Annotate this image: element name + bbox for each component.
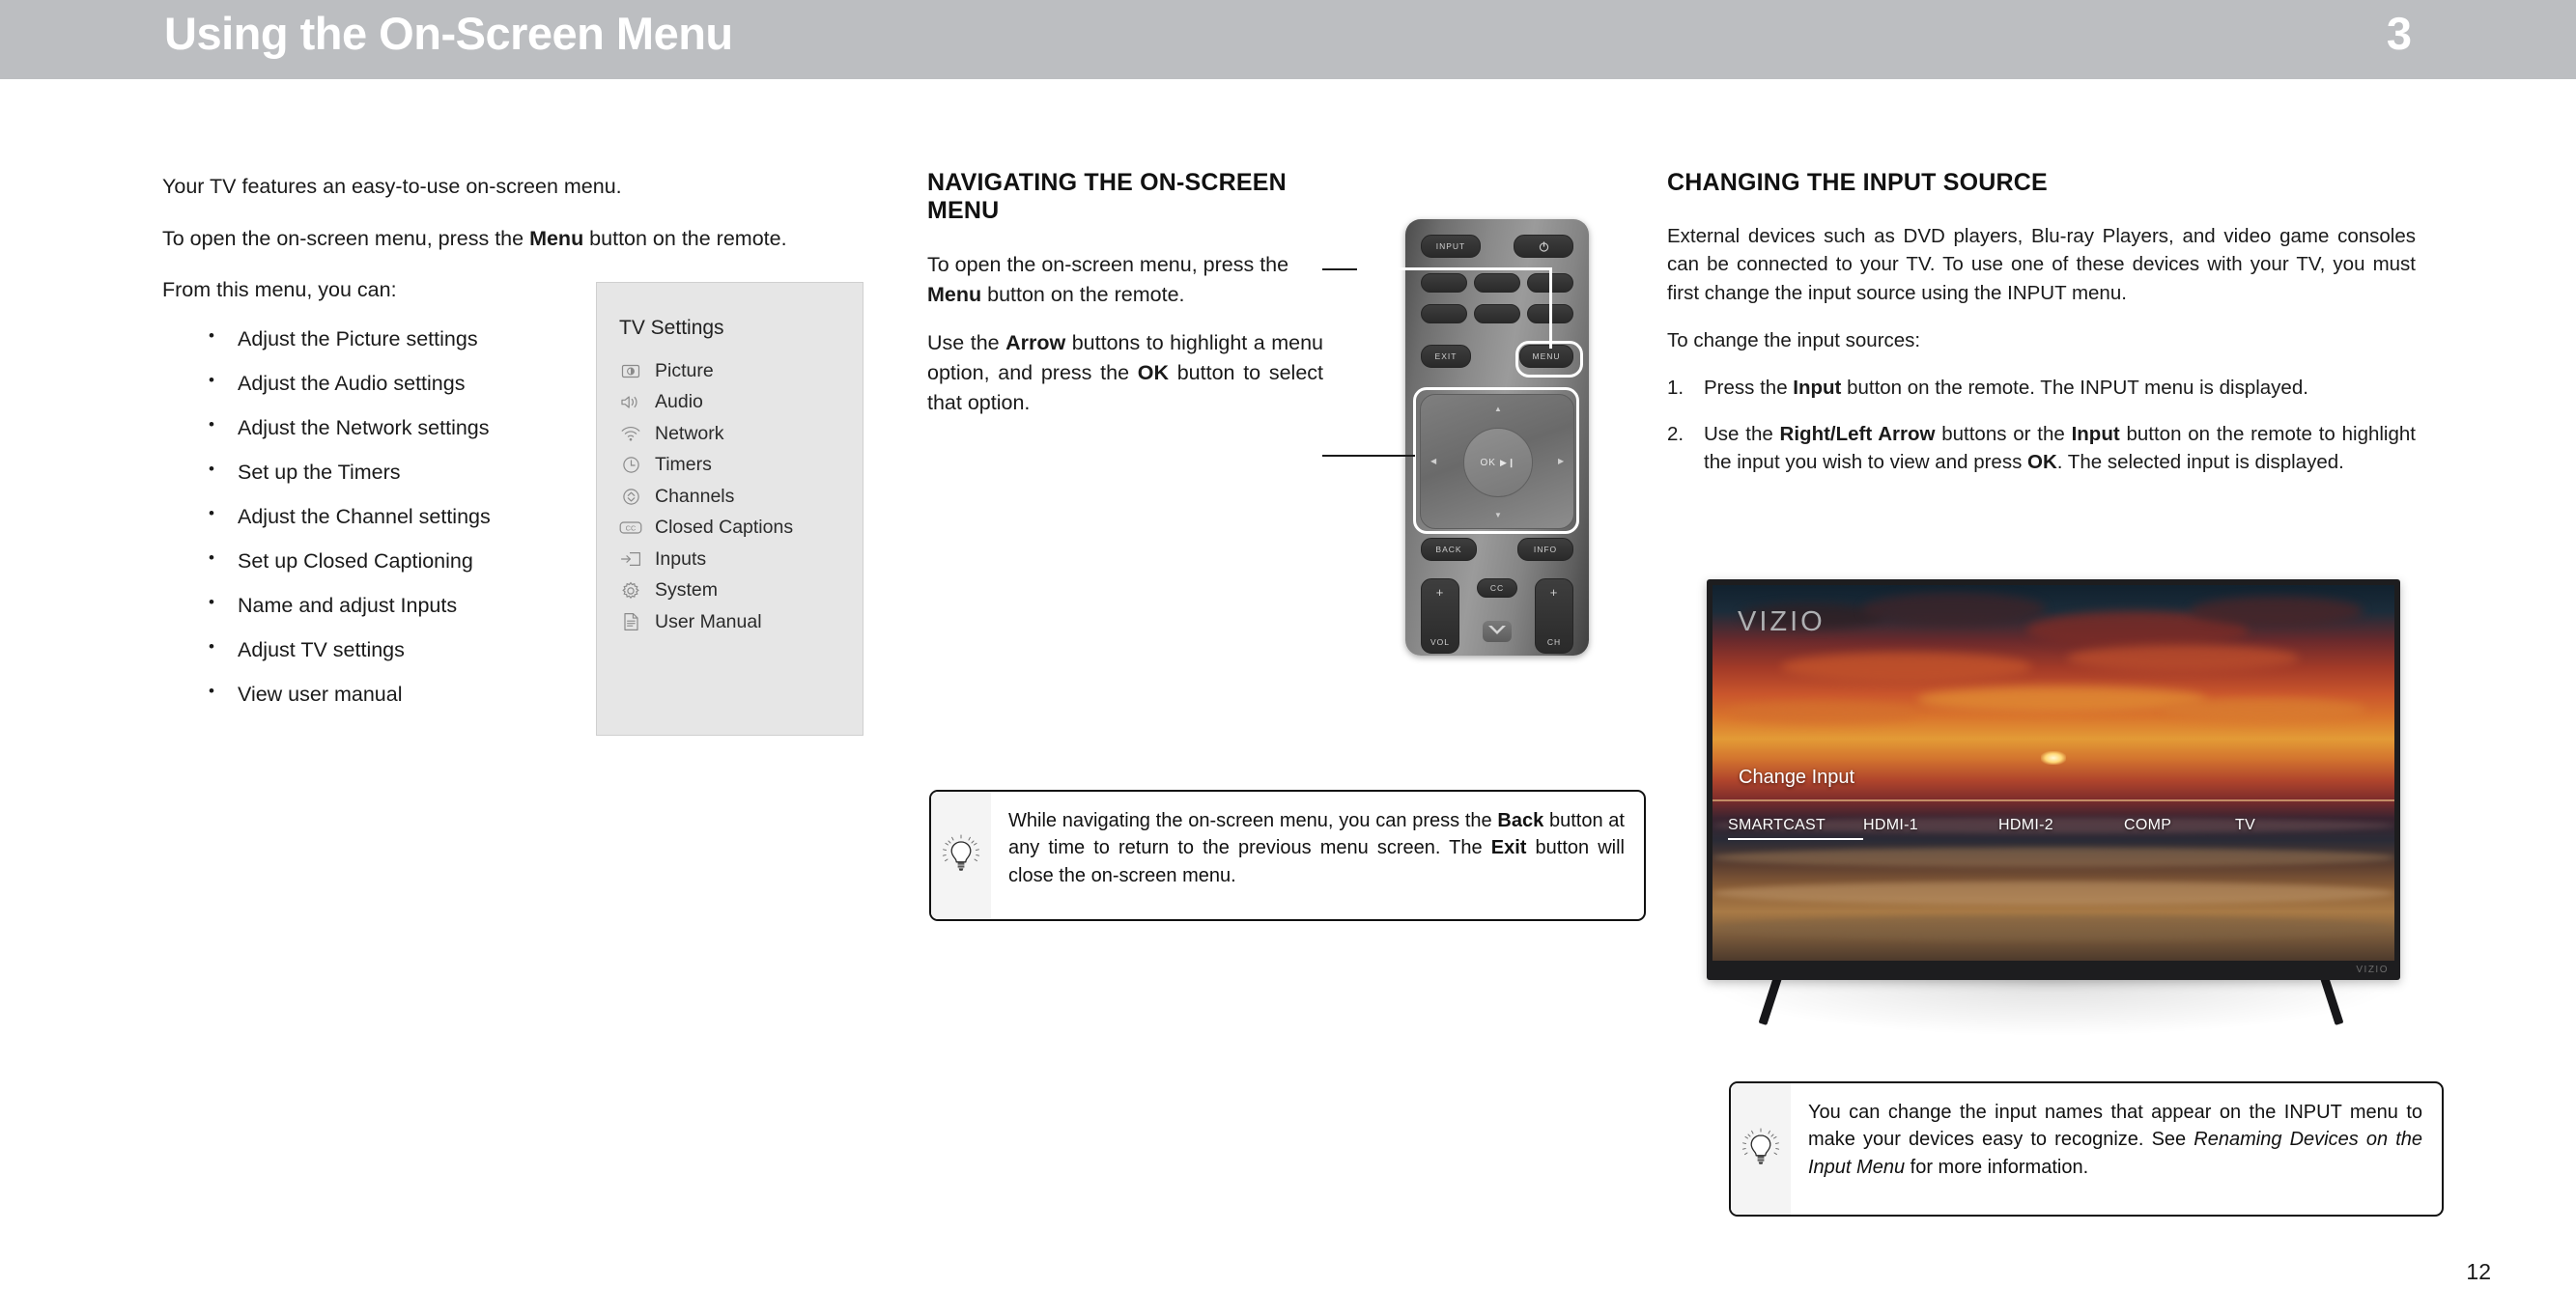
tv-input-option-hdmi1[interactable]: HDMI-1 xyxy=(1863,817,1998,834)
menu-item-user-manual[interactable]: User Manual xyxy=(616,606,858,638)
mid-p1-post: button on the remote. xyxy=(981,283,1184,306)
remote-channel-button[interactable]: + CH xyxy=(1535,578,1573,654)
tv-bezel-brand: VIZIO xyxy=(2356,965,2389,975)
mid-p1-bold: Menu xyxy=(927,283,981,306)
page-header-bar: Using the On-Screen Menu 3 xyxy=(0,0,2576,79)
left-paragraph-1: Your TV features an easy-to-use on-scree… xyxy=(162,172,896,202)
picture-contrast-icon xyxy=(616,360,645,381)
tv-settings-title: TV Settings xyxy=(619,317,724,340)
step2-bold3: OK xyxy=(2027,451,2057,473)
mid-p2-bold2: OK xyxy=(1138,361,1169,384)
ch-plus-label: + xyxy=(1550,585,1559,600)
chapter-number: 3 xyxy=(2387,7,2412,60)
remote-volume-button[interactable]: + VOL xyxy=(1421,578,1459,654)
mid-p1-pre: To open the on-screen menu, press the xyxy=(927,253,1288,276)
tip-text-navigation: While navigating the on-screen menu, you… xyxy=(991,792,1644,919)
remote-exit-button[interactable]: EXIT xyxy=(1421,345,1471,368)
step-number: 1. xyxy=(1667,374,1684,402)
vol-label: VOL xyxy=(1430,637,1450,647)
tv-input-options-bar: SMARTCAST HDMI-1 HDMI-2 COMP TV xyxy=(1728,817,2383,840)
arrow-callout-leader-line xyxy=(1322,455,1415,457)
ch-label: CH xyxy=(1547,637,1561,647)
tv-input-option-smartcast[interactable]: SMARTCAST xyxy=(1728,817,1863,840)
menu-item-timers[interactable]: Timers xyxy=(616,450,858,482)
remote-back-button[interactable]: BACK xyxy=(1421,538,1477,561)
wifi-icon xyxy=(616,423,645,444)
vol-plus-label: + xyxy=(1436,585,1445,600)
menu-item-label: Timers xyxy=(655,454,712,476)
tv-input-option-hdmi2[interactable]: HDMI-2 xyxy=(1998,817,2124,834)
menu-item-label: Audio xyxy=(655,391,703,413)
mid-p2-pre: Use the xyxy=(927,331,1005,354)
menu-item-label: Network xyxy=(655,423,724,445)
tip-box-navigation: While navigating the on-screen menu, you… xyxy=(929,790,1646,921)
lightbulb-icon xyxy=(942,834,980,877)
menu-item-label: System xyxy=(655,579,718,602)
menu-item-channels[interactable]: Channels xyxy=(616,481,858,513)
tv-bezel: VIZIO Change Input SMARTCAST HDMI-1 HDMI… xyxy=(1707,579,2400,980)
input-arrow-icon xyxy=(616,548,645,570)
tv-vizio-logo: VIZIO xyxy=(1738,606,1826,638)
middle-column: NAVIGATING THE ON-SCREEN MENU To open th… xyxy=(927,169,1323,437)
sun-glow xyxy=(2041,751,2066,765)
middle-paragraph-1: To open the on-screen menu, press the Me… xyxy=(927,250,1323,309)
horizon-line xyxy=(1713,799,2394,801)
menu-item-audio[interactable]: Audio xyxy=(616,387,858,419)
gear-icon xyxy=(616,580,645,602)
tip-icon-pane xyxy=(1731,1083,1791,1215)
remote-app-button-2[interactable] xyxy=(1474,273,1520,293)
section-heading-changing-input: CHANGING THE INPUT SOURCE xyxy=(1667,169,2416,197)
menu-item-closed-captions[interactable]: CC Closed Captions xyxy=(616,513,858,545)
remote-control-illustration: INPUT EXIT MENU ▲ ◀ ▶ ▼ OK ▶❙ xyxy=(1398,208,1596,661)
right-column: CHANGING THE INPUT SOURCE External devic… xyxy=(1667,169,2416,493)
middle-paragraph-2: Use the Arrow buttons to highlight a men… xyxy=(927,328,1323,417)
menu-item-label: Inputs xyxy=(655,548,706,571)
tip-bot-line2: for more information. xyxy=(1905,1157,2088,1178)
menu-item-label: Channels xyxy=(655,486,734,508)
lightbulb-icon xyxy=(1741,1128,1780,1170)
menu-item-system[interactable]: System xyxy=(616,575,858,607)
menu-item-network[interactable]: Network xyxy=(616,418,858,450)
step1-post: button on the remote. The INPUT menu is … xyxy=(1841,377,2308,399)
input-change-steps: 1.Press the Input button on the remote. … xyxy=(1667,374,2416,476)
manual-page: Using the On-Screen Menu 3 Your TV featu… xyxy=(0,0,2576,1316)
channel-updown-icon xyxy=(616,486,645,507)
tip-text-renaming: You can change the input names that appe… xyxy=(1791,1083,2442,1215)
list-item: 1.Press the Input button on the remote. … xyxy=(1667,374,2416,402)
menu-item-inputs[interactable]: Inputs xyxy=(616,544,858,575)
tv-input-option-tv[interactable]: TV xyxy=(2235,817,2255,834)
page-number: 12 xyxy=(2466,1259,2491,1285)
left-p2-bold: Menu xyxy=(529,227,583,250)
step1-pre: Press the xyxy=(1704,377,1793,399)
dpad-highlight xyxy=(1413,387,1579,534)
tip-box-renaming: You can change the input names that appe… xyxy=(1729,1081,2444,1217)
vizio-v-logo xyxy=(1483,621,1512,642)
remote-app-button-5[interactable] xyxy=(1474,304,1520,323)
remote-input-button[interactable]: INPUT xyxy=(1421,235,1481,258)
menu-callout-connector-horizontal xyxy=(1351,267,1552,270)
remote-power-button[interactable] xyxy=(1514,235,1573,258)
menu-item-picture[interactable]: Picture xyxy=(616,355,858,387)
tv-settings-menu-list: Picture Audio Network Timers xyxy=(616,355,858,638)
menu-item-label: Picture xyxy=(655,360,714,382)
right-paragraph-1: External devices such as DVD players, Bl… xyxy=(1667,222,2416,307)
remote-app-button-1[interactable] xyxy=(1421,273,1467,293)
menu-callout-connector-vertical xyxy=(1549,267,1552,349)
list-item: 2.Use the Right/Left Arrow buttons or th… xyxy=(1667,420,2416,477)
tip-icon-pane xyxy=(931,792,991,919)
page-title: Using the On-Screen Menu xyxy=(164,7,733,60)
tv-shadow xyxy=(1714,977,2391,1035)
menu-item-label: Closed Captions xyxy=(655,517,793,539)
speaker-icon xyxy=(616,392,645,413)
tv-screen: VIZIO Change Input SMARTCAST HDMI-1 HDMI… xyxy=(1713,585,2394,961)
section-heading-navigating: NAVIGATING THE ON-SCREEN MENU xyxy=(927,169,1323,225)
step2-bold2: Input xyxy=(2072,423,2120,445)
tip-mid-bold1: Back xyxy=(1497,810,1543,831)
tip-mid-bold2: Exit xyxy=(1491,837,1527,858)
step2-mid1: buttons or the xyxy=(1935,423,2071,445)
power-icon xyxy=(1539,241,1549,252)
menu-callout-leader-line xyxy=(1322,268,1357,270)
tip-mid-line1: While navigating the on-screen menu, you… xyxy=(1008,810,1497,831)
cc-icon: CC xyxy=(616,518,645,539)
step2-pre: Use the xyxy=(1704,423,1780,445)
remote-cc-button[interactable]: CC xyxy=(1477,578,1517,598)
tv-settings-panel: TV Settings Picture Audio Network xyxy=(596,282,863,736)
remote-app-button-4[interactable] xyxy=(1421,304,1467,323)
clock-icon xyxy=(616,455,645,476)
step1-bold: Input xyxy=(1793,377,1841,399)
step-number: 2. xyxy=(1667,420,1684,448)
menu-item-label: User Manual xyxy=(655,611,762,633)
tv-change-input-title: Change Input xyxy=(1739,767,1854,789)
mid-p2-bold1: Arrow xyxy=(1005,331,1065,354)
left-paragraph-2: To open the on-screen menu, press the Me… xyxy=(162,224,896,254)
step2-bold1: Right/Left Arrow xyxy=(1780,423,1936,445)
right-paragraph-2: To change the input sources: xyxy=(1667,326,2416,354)
document-icon xyxy=(616,611,645,632)
tv-input-option-comp[interactable]: COMP xyxy=(2124,817,2235,834)
svg-text:CC: CC xyxy=(626,524,637,533)
tv-illustration: VIZIO Change Input SMARTCAST HDMI-1 HDMI… xyxy=(1685,579,2400,1033)
left-p2-post: button on the remote. xyxy=(583,227,786,250)
left-p2-pre: To open the on-screen menu, press the xyxy=(162,227,529,250)
remote-info-button[interactable]: INFO xyxy=(1517,538,1573,561)
step2-post: . The selected input is displayed. xyxy=(2057,451,2344,473)
